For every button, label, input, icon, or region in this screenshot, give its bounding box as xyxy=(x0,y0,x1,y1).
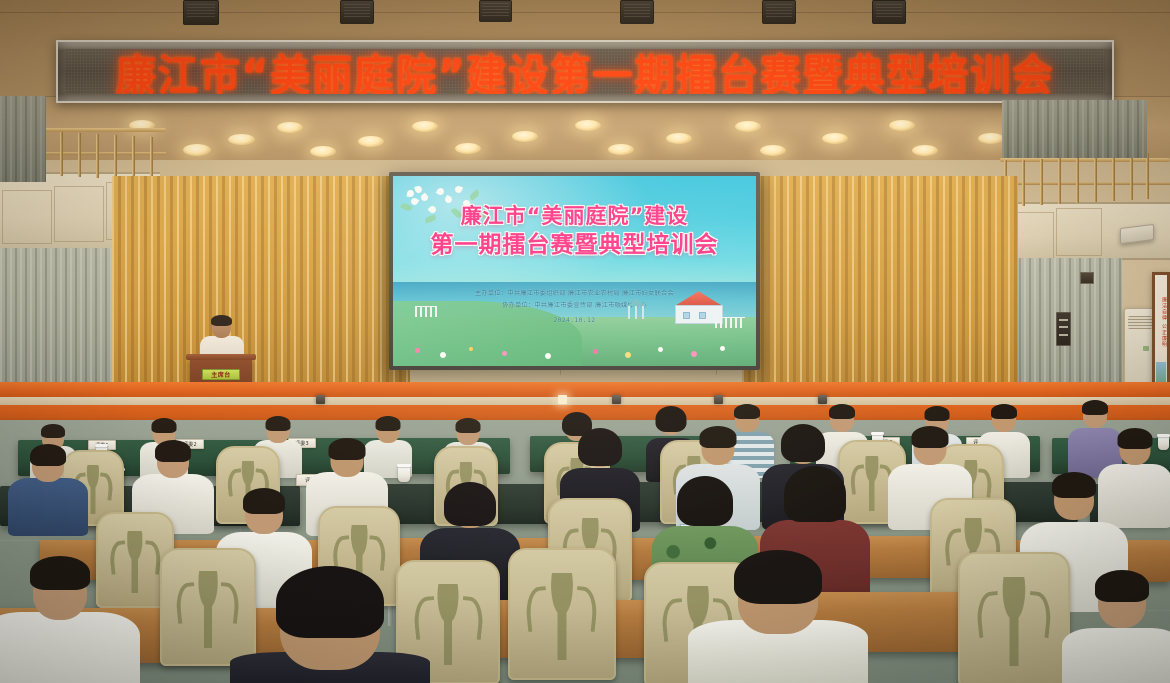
audience-person xyxy=(8,440,88,532)
conference-hall-photo: 廉江市“美丽庭院”建设第一期擂台赛暨典型培训会 xyxy=(0,0,1170,683)
ceiling-downlight-icon xyxy=(277,122,303,133)
ceiling-downlight-icon xyxy=(760,145,786,156)
ceiling-downlight-icon xyxy=(512,131,538,142)
led-banner: 廉江市“美丽庭院”建设第一期擂台赛暨典型培训会 xyxy=(56,40,1114,103)
ceiling-downlight-icon xyxy=(978,133,1004,144)
screen-title: 廉江市“美丽庭院”建设 第一期擂台赛暨典型培训会 xyxy=(393,203,756,261)
ceiling-seam xyxy=(0,12,1170,13)
ceiling-downlight-icon xyxy=(183,144,211,156)
upper-curtain-left xyxy=(0,96,46,182)
upper-curtain-right xyxy=(1002,100,1147,158)
wall-poster-text: 廉洁自律 公正廉明 xyxy=(1155,284,1167,360)
wall-notice-sign xyxy=(1056,312,1071,346)
screen-gazebo-icon xyxy=(625,298,647,320)
led-banner-text: 廉江市“美丽庭院”建设第一期擂台赛暨典型培训会 xyxy=(116,49,1055,94)
ceiling-speaker-icon xyxy=(620,0,654,24)
ceiling-downlight-icon xyxy=(228,134,255,145)
ceiling-downlight-icon xyxy=(735,121,761,132)
ceiling-downlight-icon xyxy=(455,143,481,154)
projection-screen: 廉江市“美丽庭院”建设 第一期擂台赛暨典型培训会 主办单位：中共廉江市委组织部 … xyxy=(389,172,760,370)
stage-curtain-right xyxy=(748,176,1018,404)
ceiling-speaker-icon xyxy=(340,0,374,24)
ceiling-downlight-icon xyxy=(889,120,915,131)
audience-person xyxy=(1062,570,1170,683)
audience-person xyxy=(688,552,868,683)
wall-panel xyxy=(1056,208,1102,256)
ceiling-downlight-icon xyxy=(912,145,938,156)
led-banner-panel: 廉江市“美丽庭院”建设第一期擂台赛暨典型培训会 xyxy=(65,49,1105,94)
ceiling-downlight-icon xyxy=(412,121,438,132)
audience-person xyxy=(0,560,140,683)
ceiling-downlight-icon xyxy=(575,120,601,131)
screen-fence-icon xyxy=(415,306,437,317)
screen-title-line2: 第一期擂台赛暨典型培训会 xyxy=(393,230,756,260)
wall-poster: 廉洁自律 公正廉明 xyxy=(1152,272,1170,390)
ceiling-speaker-icon xyxy=(872,0,906,24)
chair xyxy=(958,552,1070,683)
wall-plaque xyxy=(1080,272,1094,284)
audience-person xyxy=(230,566,430,683)
screen-flowerbed xyxy=(393,320,756,362)
ceiling-downlight-icon xyxy=(358,136,384,147)
stage-curtain-left xyxy=(112,176,402,404)
ceiling-downlight-icon xyxy=(608,144,634,155)
screen-title-line1: 廉江市“美丽庭院”建设 xyxy=(393,203,756,231)
paper-cup xyxy=(398,466,410,482)
wall-panel xyxy=(54,186,104,242)
ceiling-speaker-icon xyxy=(183,0,219,25)
ceiling-downlight-icon xyxy=(666,133,692,144)
ceiling-speaker-icon xyxy=(479,0,512,22)
chair xyxy=(508,548,616,680)
wall-panel xyxy=(2,190,52,244)
ceiling-downlight-icon xyxy=(822,133,848,144)
projection-screen-content: 廉江市“美丽庭院”建设 第一期擂台赛暨典型培训会 主办单位：中共廉江市委组织部 … xyxy=(393,176,756,366)
ceiling-downlight-icon xyxy=(310,146,336,157)
ceiling-speaker-icon xyxy=(762,0,796,24)
